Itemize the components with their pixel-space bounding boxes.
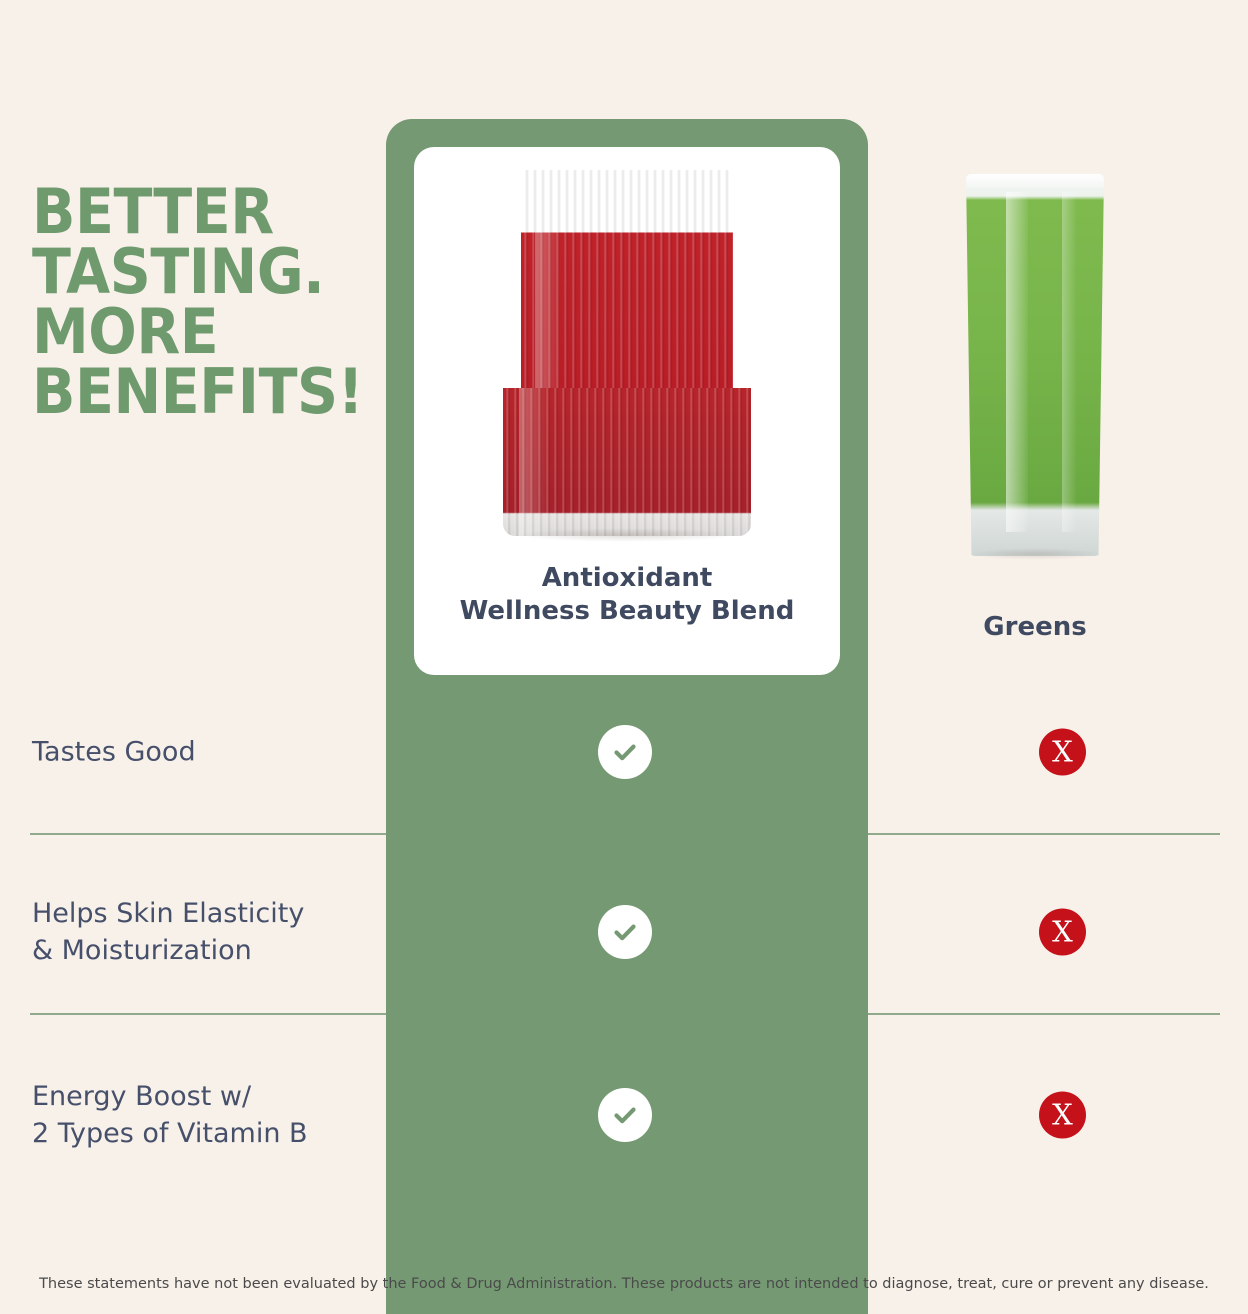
- check-icon: [598, 1088, 652, 1142]
- legal-disclaimer: These statements have not been evaluated…: [0, 1276, 1248, 1293]
- headline-line-3: MORE: [32, 302, 354, 362]
- glass-shadow: [515, 528, 739, 542]
- row-label: Helps Skin Elasticity & Moisturization: [32, 895, 382, 970]
- product-column-card: Antioxidant Wellness Beauty Blend: [414, 147, 840, 675]
- product-title: Antioxidant Wellness Beauty Blend: [414, 562, 840, 627]
- glass-lower-section: [503, 388, 751, 536]
- glass-shine: [1062, 192, 1076, 532]
- x-icon: X: [1039, 909, 1086, 956]
- headline-line-4: BENEFITS!: [32, 362, 354, 422]
- row-label-line: Energy Boost w/: [32, 1078, 382, 1115]
- check-icon: [598, 905, 652, 959]
- glass-shine: [535, 170, 561, 388]
- row-divider: [30, 1013, 386, 1015]
- glass-shine: [519, 388, 549, 536]
- row-label-line: Tastes Good: [32, 733, 382, 770]
- x-icon: X: [1039, 1092, 1086, 1139]
- comparison-infographic: BETTER TASTING. MORE BENEFITS! Antioxida…: [0, 0, 1248, 1314]
- red-drink-glass-icon: [497, 170, 757, 550]
- greens-mark-cell: X: [1039, 729, 1086, 776]
- product-mark-cell: [598, 725, 652, 779]
- row-divider: [30, 833, 386, 835]
- product-title-line-1: Antioxidant: [414, 562, 840, 595]
- greens-mark-cell: X: [1039, 1092, 1086, 1139]
- row-divider: [868, 833, 1220, 835]
- glass-body: [966, 174, 1104, 556]
- greens-title: Greens: [900, 612, 1170, 642]
- glass-shadow: [970, 548, 1100, 560]
- page-headline: BETTER TASTING. MORE BENEFITS!: [32, 182, 354, 423]
- comparison-row: Helps Skin Elasticity & Moisturization X: [0, 852, 1248, 1012]
- product-mark-cell: [598, 1088, 652, 1142]
- x-icon: X: [1039, 729, 1086, 776]
- check-icon: [598, 725, 652, 779]
- glass-foam-rim: [966, 174, 1104, 188]
- row-label: Tastes Good: [32, 733, 382, 770]
- glass-shine: [1006, 192, 1028, 532]
- glass-upper-section: [521, 170, 733, 388]
- product-mark-cell: [598, 905, 652, 959]
- row-label-line: 2 Types of Vitamin B: [32, 1115, 382, 1152]
- comparison-row: Energy Boost w/ 2 Types of Vitamin B X: [0, 1035, 1248, 1195]
- green-juice-glass-icon: [960, 174, 1110, 564]
- headline-line-1: BETTER: [32, 182, 354, 242]
- row-label-line: & Moisturization: [32, 932, 382, 969]
- comparison-row: Tastes Good X: [0, 672, 1248, 832]
- row-label: Energy Boost w/ 2 Types of Vitamin B: [32, 1078, 382, 1153]
- headline-line-2: TASTING.: [32, 242, 354, 302]
- product-title-line-2: Wellness Beauty Blend: [414, 595, 840, 628]
- row-divider: [868, 1013, 1220, 1015]
- greens-mark-cell: X: [1039, 909, 1086, 956]
- row-label-line: Helps Skin Elasticity: [32, 895, 382, 932]
